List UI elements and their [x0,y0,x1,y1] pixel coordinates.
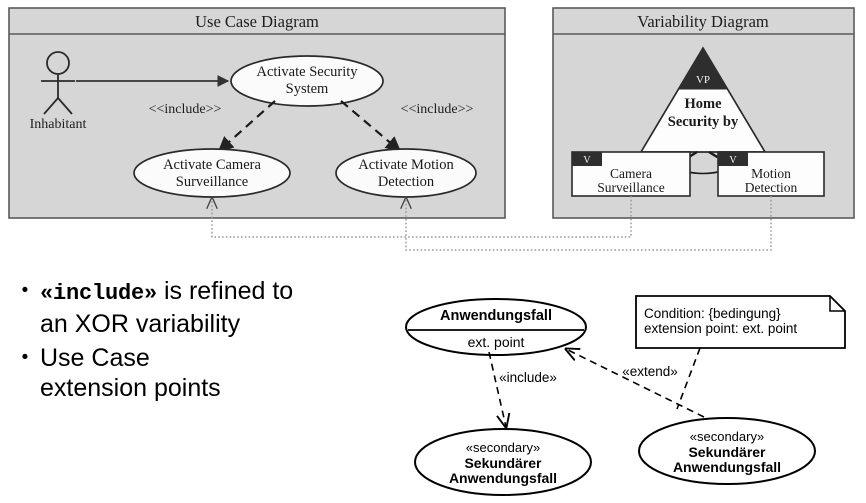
bullet-marker: • [10,343,40,373]
use-case-secondary-extend[interactable]: «secondary» Sekundärer Anwendungsfall [639,418,815,484]
secondary-label-line1: Sekundärer [688,444,766,460]
secondary-stereotype: «secondary» [690,429,764,444]
note-anchor-line [677,348,700,409]
list-item: • «include» is refined to an XOR variabi… [10,276,410,339]
condition-note[interactable]: Condition: {bedingung} extension point: … [636,296,845,348]
use-case-label-line1: Activate Motion [358,157,454,173]
bullet-line2: extension points [40,374,221,402]
use-case-label-line2: Surveillance [176,174,248,190]
use-case-panel-title: Use Case Diagram [195,12,319,31]
bullet-content: Use Case extension points [40,343,221,403]
base-use-case-name: Anwendungsfall [440,308,552,324]
variant-badge-label: V [583,155,591,166]
bullet-line2: an XOR variability [40,310,240,338]
use-case-secondary-include[interactable]: «secondary» Sekundärer Anwendungsfall [415,429,591,495]
use-case-label-line1: Activate Camera [163,157,261,173]
use-case-activate-motion-detection[interactable]: Activate Motion Detection [336,149,476,197]
extension-point-diagram: Anwendungsfall ext. point Condition: {be… [406,296,845,495]
variant-camera-surveillance[interactable]: V Camera Surveillance [572,152,690,196]
include-label-left: <<include>> [149,102,222,117]
extend-relation-label: «extend» [622,364,678,379]
secondary-label-line1: Sekundärer [464,455,542,471]
slide-canvas: Use Case Diagram Inhabitant Activate Sec… [0,0,866,503]
bullet-line1-tail: is refined to [157,277,293,305]
bullet-line1: Use Case [40,344,150,372]
secondary-label-line2: Anwendungsfall [449,470,557,486]
extend-dependency-line [566,349,704,417]
variant-label-line1: Camera [610,166,652,181]
variant-label-line2: Detection [745,180,798,195]
list-item: • Use Case extension points [10,343,410,403]
variant-label-line1: Motion [751,166,791,181]
vp-label-line2: Security by [668,114,739,130]
variant-badge-label: V [729,155,737,166]
variant-motion-detection[interactable]: V Motion Detection [718,152,824,196]
note-line-2: extension point: ext. point [644,321,797,336]
bullet-marker: • [10,276,40,306]
extension-point-label: ext. point [468,334,525,350]
note-line-1: Condition: {bedingung} [644,306,781,321]
diagram-vector-layer: Use Case Diagram Inhabitant Activate Sec… [0,0,866,503]
secondary-label-line2: Anwendungsfall [673,459,781,475]
include-dependency-line [489,352,506,427]
actor-label: Inhabitant [30,117,87,132]
secondary-stereotype: «secondary» [466,440,540,455]
use-case-activate-security-system[interactable]: Activate Security System [231,56,383,106]
bullet-list: • «include» is refined to an XOR variabi… [10,276,410,407]
include-label-right: <<include>> [401,102,474,117]
use-case-label-line1: Activate Security [256,64,358,80]
use-case-diagram-panel: Use Case Diagram Inhabitant Activate Sec… [9,8,505,218]
vp-label-line1: Home [684,96,722,112]
use-case-activate-camera-surveillance[interactable]: Activate Camera Surveillance [134,149,290,197]
use-case-label-line2: System [286,81,329,97]
vp-badge-label: VP [696,74,710,86]
bullet-content: «include» is refined to an XOR variabili… [40,276,293,339]
variability-diagram-panel: Variability Diagram VP Home Security by … [553,8,854,218]
include-relation-label: «include» [499,370,557,385]
use-case-anwendungsfall[interactable]: Anwendungsfall ext. point [406,299,586,355]
include-stereotype-text: «include» [40,281,157,306]
use-case-label-line2: Detection [378,174,435,190]
variant-label-line2: Surveillance [597,180,664,195]
variability-panel-title: Variability Diagram [637,12,769,31]
